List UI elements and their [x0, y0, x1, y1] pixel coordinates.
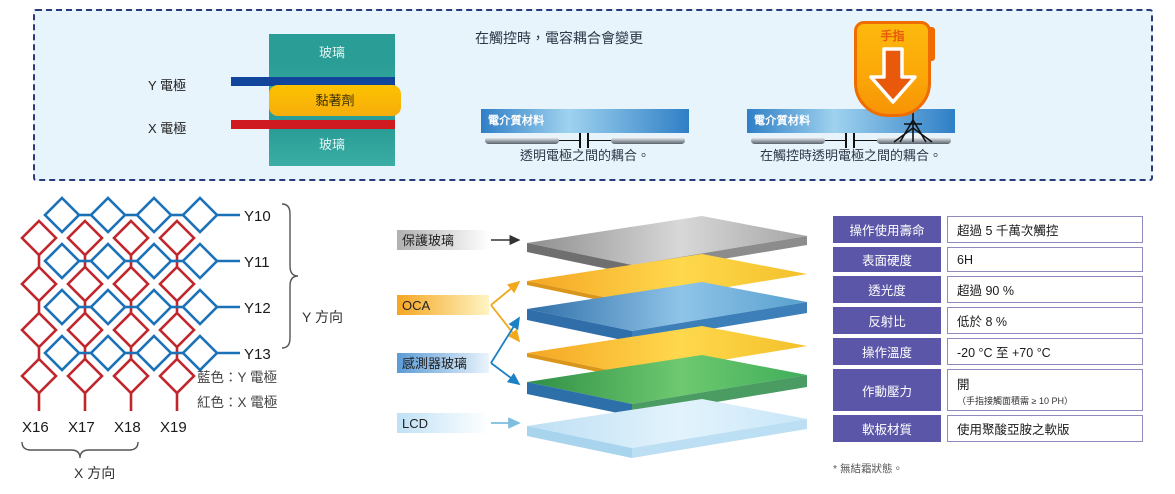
x-label-1: X17 [68, 419, 95, 436]
exploded-stack-svg: 保護玻璃 OCA 感測器玻璃 LCD [392, 208, 832, 480]
y-electrode-label: Y 電極 [148, 75, 186, 94]
table-row: 操作溫度 -20 °C 至 +70 °C [833, 338, 1143, 365]
panel-caption: 在觸控時，電容耦合會變更 [475, 28, 643, 48]
x-direction-label: X 方向 [74, 465, 115, 481]
table-row: 軟板材質 使用聚酸亞胺之軟版 [833, 415, 1143, 442]
x-electrode-bar [231, 120, 395, 129]
dielectric-slab-left: 電介質材料 [481, 109, 689, 133]
dielectric-slab-label-right: 電介質材料 [754, 112, 811, 128]
finger-label: 手指 [854, 27, 931, 44]
x-label-2: X18 [114, 419, 141, 436]
dielectric-block-left: 電介質材料 透明電極之間的耦合。 [481, 109, 689, 146]
spec-value: -20 °C 至 +70 °C [947, 338, 1143, 365]
spec-value-text: 6H [957, 253, 1133, 267]
x-electrode-group [22, 221, 194, 411]
glass-top-label: 玻璃 [269, 46, 395, 59]
electrode-pad [485, 137, 559, 144]
down-arrow-icon [868, 47, 918, 105]
dielectric-caption-left: 透明電極之間的耦合。 [481, 145, 689, 164]
exploded-stack-diagram: 保護玻璃 OCA 感測器玻璃 LCD [392, 208, 832, 480]
spec-value-sub: （手指接觸面積需 ≥ 10 PH） [957, 394, 1133, 407]
spec-value-text: 超過 90 % [957, 280, 1133, 299]
y-direction-label: Y 方向 [302, 309, 343, 325]
capacitor-lead [825, 140, 845, 141]
cross-section-diagram: 玻璃 玻璃 黏著劑 [231, 34, 395, 166]
electrode-pad [751, 137, 825, 144]
electrode-grid-diagram: Y10 Y11 Y12 Y13 Y 方向 X16 X17 X18 X19 X 方… [0, 196, 380, 489]
y-label-2: Y12 [244, 300, 271, 317]
spec-value-text: 超過 5 千萬次觸控 [957, 220, 1133, 239]
specification-table: 操作使用壽命 超過 5 千萬次觸控 表面硬度 6H 透光度 超過 90 % 反射… [833, 216, 1143, 446]
dielectric-slab-label-left: 電介質材料 [488, 112, 545, 128]
finger-icon: 手指 [854, 21, 931, 117]
table-row: 反射比 低於 8 % [833, 307, 1143, 334]
electrode-grid-svg: Y10 Y11 Y12 Y13 Y 方向 X16 X17 X18 X19 X 方… [0, 196, 380, 489]
glass-bottom-label: 玻璃 [269, 138, 395, 151]
x-direction-brace [22, 442, 138, 458]
y-label-3: Y13 [244, 346, 271, 363]
svg-text:感測器玻璃: 感測器玻璃 [402, 356, 467, 371]
y-electrode-group [45, 198, 240, 370]
spec-value: 使用聚酸亞胺之軟版 [947, 415, 1143, 442]
spec-value-text: 低於 8 % [957, 311, 1133, 330]
spec-key: 反射比 [833, 307, 941, 334]
stack-label-cover-glass: 保護玻璃 [397, 230, 519, 250]
spec-value: 6H [947, 247, 1143, 272]
legend-x: 紅色：X 電極 [197, 394, 277, 410]
y-label-0: Y10 [244, 208, 271, 225]
table-row: 透光度 超過 90 % [833, 276, 1143, 303]
x-label-0: X16 [22, 419, 49, 436]
spec-value: 超過 5 千萬次觸控 [947, 216, 1143, 243]
diagram-canvas: 玻璃 玻璃 黏著劑 Y 電極 X 電極 在觸控時，電容耦合會變更 電介質材料 [0, 0, 1175, 489]
x-label-3: X19 [160, 419, 187, 436]
field-lines-icon [890, 112, 936, 146]
svg-text:LCD: LCD [402, 416, 428, 431]
stack-label-sensor-glass: 感測器玻璃 [397, 318, 519, 384]
x-electrode-label: X 電極 [148, 118, 186, 137]
adhesive-layer: 黏著劑 [269, 85, 401, 116]
spec-key: 作動壓力 [833, 369, 941, 411]
spec-value-text: -20 °C 至 +70 °C [957, 342, 1133, 361]
capacitor-lead [559, 140, 579, 141]
y-direction-brace [282, 204, 298, 348]
spec-value: 低於 8 % [947, 307, 1143, 334]
spec-key: 透光度 [833, 276, 941, 303]
capacitor-lead [589, 140, 611, 141]
spec-key: 操作溫度 [833, 338, 941, 365]
spec-key: 操作使用壽命 [833, 216, 941, 243]
capacitive-coupling-panel: 玻璃 玻璃 黏著劑 Y 電極 X 電極 在觸控時，電容耦合會變更 電介質材料 [33, 9, 1153, 181]
stack-label-lcd: LCD [397, 413, 519, 433]
y-label-1: Y11 [244, 254, 270, 271]
spec-value-text: 開 [957, 374, 1133, 393]
spec-key: 軟板材質 [833, 415, 941, 442]
spec-value-text: 使用聚酸亞胺之軟版 [957, 419, 1133, 438]
legend-y: 藍色：Y 電極 [197, 369, 277, 385]
spec-value: 開 （手指接觸面積需 ≥ 10 PH） [947, 369, 1143, 411]
layer-lcd [527, 399, 807, 458]
capacitor-lead [855, 140, 877, 141]
electrode-pad [611, 137, 685, 144]
table-row: 操作使用壽命 超過 5 千萬次觸控 [833, 216, 1143, 243]
spec-value: 超過 90 % [947, 276, 1143, 303]
table-row: 作動壓力 開 （手指接觸面積需 ≥ 10 PH） [833, 369, 1143, 411]
spec-key: 表面硬度 [833, 247, 941, 272]
dielectric-caption-right: 在觸控時透明電極之間的耦合。 [747, 145, 955, 164]
spec-table-note: * 無結霜狀態。 [833, 461, 903, 476]
stack-label-oca: OCA [397, 282, 519, 341]
svg-text:保護玻璃: 保護玻璃 [402, 233, 454, 248]
table-row: 表面硬度 6H [833, 247, 1143, 272]
svg-text:OCA: OCA [402, 298, 431, 313]
